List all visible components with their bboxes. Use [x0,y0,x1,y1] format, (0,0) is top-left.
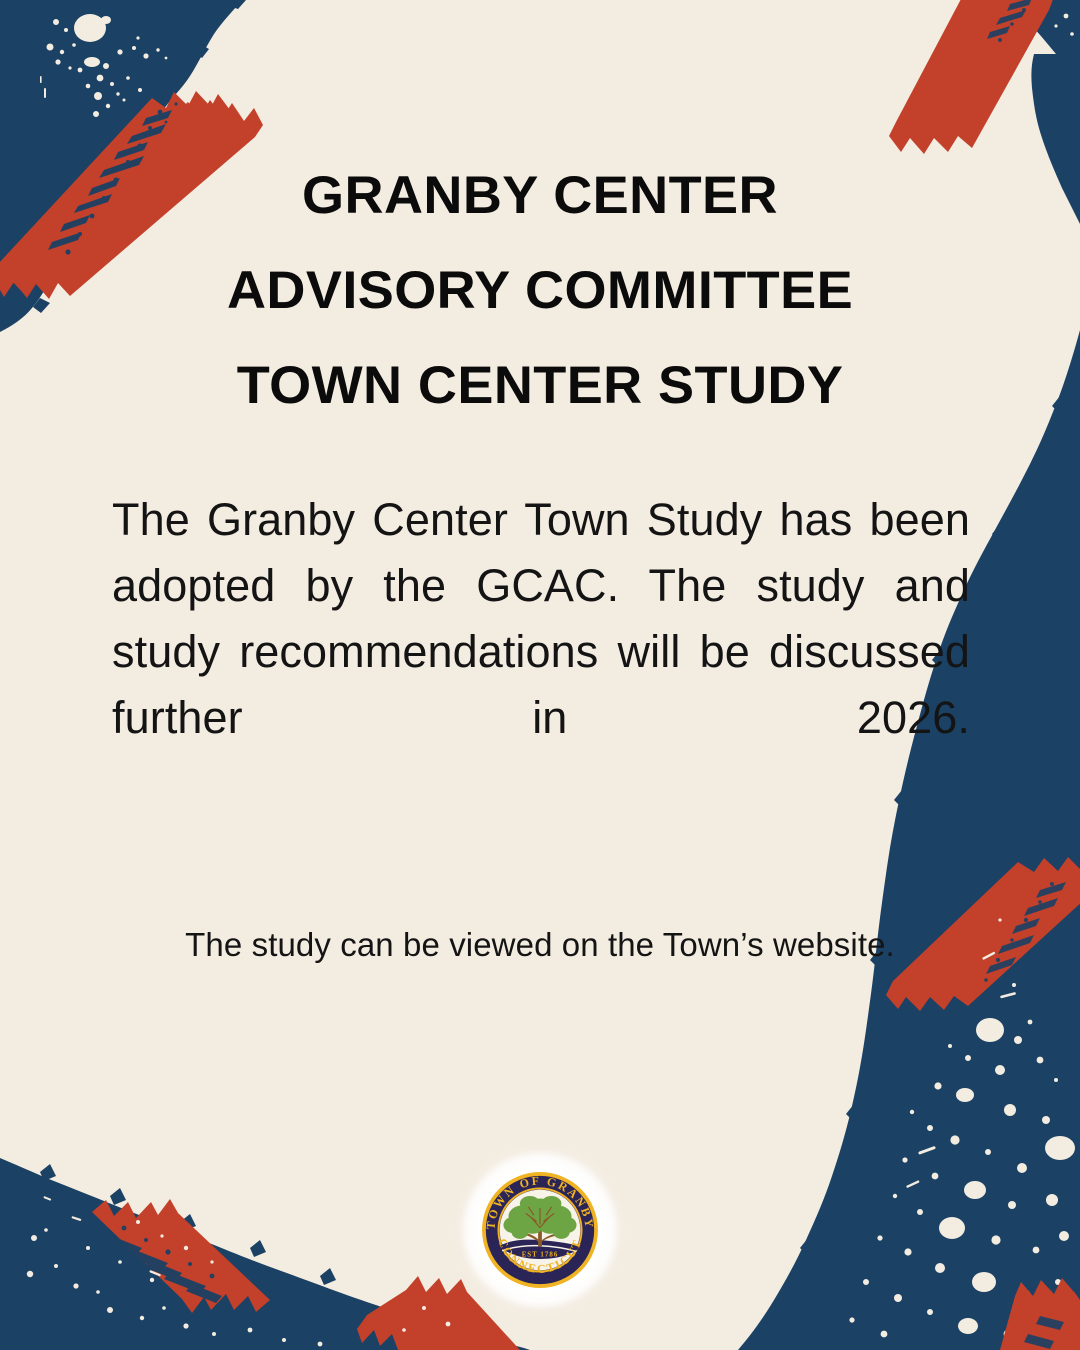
page-title: GRANBY CENTER ADVISORY COMMITTEE TOWN CE… [0,148,1080,433]
poster-canvas: GRANBY CENTER ADVISORY COMMITTEE TOWN CE… [0,0,1080,1350]
poster-content: GRANBY CENTER ADVISORY COMMITTEE TOWN CE… [0,0,1080,1350]
note-block: The study can be viewed on the Town’s we… [0,922,1080,968]
title-line-2: ADVISORY COMMITTEE [81,243,999,338]
body-paragraph: The Granby Center Town Study has been ad… [112,487,970,817]
note-text: The study can be viewed on the Town’s we… [0,922,1080,968]
body-block: The Granby Center Town Study has been ad… [112,487,970,817]
title-line-3: TOWN CENTER STUDY [81,338,999,433]
town-seal: EST 1786 TOWN OF GRANBY CONNECTICUT [477,1167,603,1293]
title-line-1: GRANBY CENTER [81,148,999,243]
seal-established: EST 1786 [522,1251,559,1258]
town-seal-graphic: EST 1786 TOWN OF GRANBY CONNECTICUT [477,1167,603,1293]
